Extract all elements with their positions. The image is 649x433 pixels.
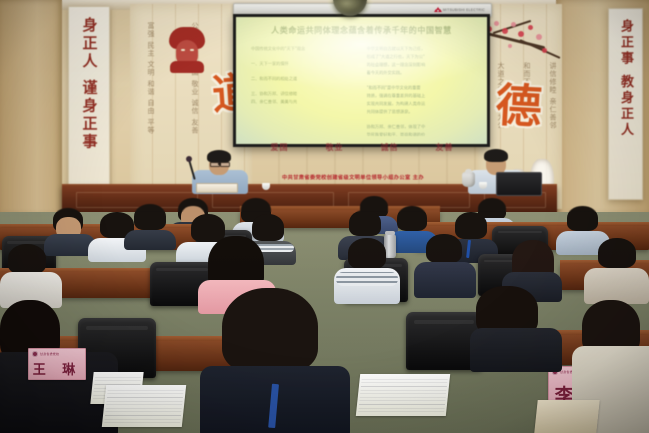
slide-text-line: 二、和而不同的相处之道 — [251, 75, 351, 83]
presentation-slide: 人类命运共同体理念蕴含着传承千年的中国智慧 中国传统文化中的"天下"观念一、天下… — [236, 17, 487, 144]
slide-text-line: 华民族爱好和平、崇尚和谐的价 — [367, 131, 475, 136]
slide-left-column: 中国传统文化中的"天下"观念一、天下一家的情怀二、和而不同的相处之道三、协和万邦… — [251, 45, 351, 136]
slide-text-line: "和而不同"是中华文化的重要 — [367, 84, 475, 92]
name-card-name: 王 琳 — [29, 359, 85, 378]
attendee — [414, 234, 476, 296]
speaker-glasses-right — [220, 162, 230, 167]
scroll-left-text: 身正人 谨身正事 — [79, 17, 100, 151]
attendee — [0, 244, 62, 306]
slide-text-line: 特质，强调在尊重差异的基础上 — [367, 92, 475, 100]
microphone-head-left — [186, 156, 192, 162]
calligraphy-scroll-left: 身正人 谨身正事 — [68, 6, 110, 193]
slide-text-line: 中国传统文化中的"天下"观念 — [251, 45, 351, 53]
value-word: 敬业 — [326, 142, 344, 153]
attendee — [334, 238, 400, 302]
slide-text-line: 着今天的外交实践。 — [367, 69, 475, 77]
calligraphy-scroll-right: 身正事 教身正人 — [608, 8, 643, 200]
name-card-org: 甘肃省委党校 — [40, 352, 59, 356]
notebook-page[interactable] — [102, 385, 186, 427]
slide-text-line: 三、协和万邦、讲信修睦 — [251, 90, 351, 98]
mural-seal-glyph-right: 德 — [494, 69, 543, 137]
slide-text-line: 实现共同发展，为构建人类命运 — [367, 100, 475, 108]
slide-text-line: 共同体提供了思想源泉。 — [367, 108, 475, 116]
slide-text-line: 中华文明自古就以天下为己任， — [367, 45, 475, 53]
head-table-nameplate-left — [196, 183, 238, 193]
conference-photo: 富强 民主 文明 和谐 自由 平等 公正 法治 爱国 敬业 诚信 友善 富强 民… — [0, 0, 649, 433]
slide-right-column: 中华文明自古就以天下为己任，形成了"大道之行也，天下为公"的社会理想，这一理念深… — [367, 45, 475, 136]
projection-screen: 人类命运共同体理念蕴含着传承千年的中国智慧 中国传统文化中的"天下"观念一、天下… — [233, 14, 490, 147]
projector-brand-text: MITSUBISHI ELECTRIC — [443, 8, 485, 12]
value-word: 友善 — [436, 142, 454, 153]
host-organization-banner: 中共甘肃省委党校创建省级文明单位领导小组办公室 主办 — [258, 174, 448, 184]
teapot — [462, 172, 475, 187]
handout-paper[interactable] — [356, 374, 450, 416]
lei-feng-portrait-icon — [168, 27, 206, 73]
value-word: 诚信 — [381, 142, 399, 153]
slide-text-line: 四、亲仁善邻、美美与共 — [251, 98, 351, 106]
party-school-seal-icon — [32, 351, 38, 357]
slide-text-line: 协和万邦、亲仁善邻，体现了中 — [367, 123, 475, 131]
name-card-foreground-left: 甘肃省委党校 王 琳 — [28, 348, 86, 380]
slide-title: 人类命运共同体理念蕴含着传承千年的中国智慧 — [246, 25, 477, 36]
mitsubishi-logo-icon — [435, 7, 441, 12]
slide-text-line: 一、天下一家的情怀 — [251, 60, 351, 68]
laptop-right[interactable] — [496, 172, 542, 196]
attendee — [124, 204, 176, 248]
host-hair — [484, 149, 508, 162]
scroll-right-text: 身正事 教身正人 — [616, 19, 635, 139]
attendee-foreground-center — [200, 288, 340, 433]
core-values-wall-text: 爱国 敬业 诚信 友善 — [252, 141, 472, 153]
attendee — [470, 286, 556, 364]
slide-text-line: 形成了"大道之行也，天下为公" — [367, 53, 475, 61]
projector-brand-label: MITSUBISHI ELECTRIC — [435, 7, 485, 12]
name-card-logo: 甘肃省委党校 — [32, 351, 59, 357]
mural-calligraphy-column: 富强 民主 文明 和谐 自由 平等 — [138, 22, 156, 197]
left-wall-wood-column — [0, 0, 62, 215]
slide-text-line: 的社会理想，这一理念深刻影响 — [367, 61, 475, 69]
value-word: 爱国 — [271, 142, 289, 153]
attendee — [584, 238, 649, 300]
folder-notebook[interactable] — [534, 400, 599, 433]
